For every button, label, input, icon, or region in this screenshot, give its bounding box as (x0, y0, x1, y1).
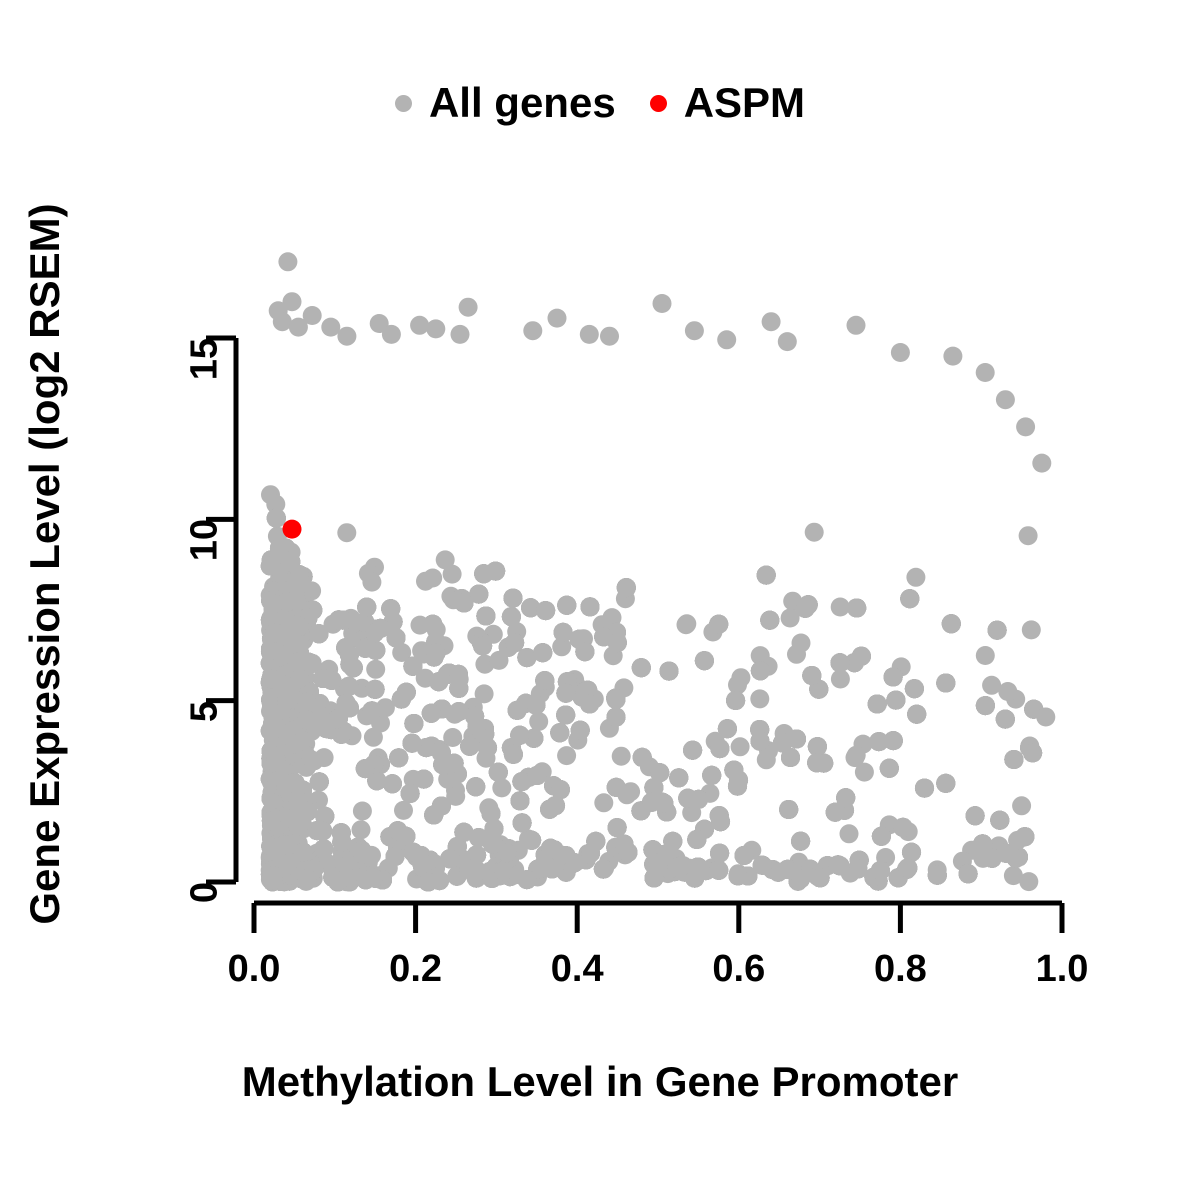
aspm-highlight-point (283, 520, 302, 539)
x-tick-label: 0.0 (228, 948, 281, 991)
y-tick-label: 15 (184, 338, 227, 380)
y-axis-title: Gene Expression Level (log2 RSEM) (21, 0, 69, 1164)
x-tick-label: 0.8 (874, 948, 927, 991)
y-tick-label: 5 (184, 701, 227, 722)
x-tick-label: 0.4 (551, 948, 604, 991)
x-tick-label: 0.6 (712, 948, 765, 991)
x-tick-label: 1.0 (1036, 948, 1089, 991)
data-points-layer (261, 252, 1056, 891)
scatter-plot-figure: All genes ASPM Methylation Level in Gene… (0, 0, 1200, 1200)
y-tick-label: 0 (184, 882, 227, 903)
x-axis-title: Methylation Level in Gene Promoter (0, 1058, 1200, 1106)
y-tick-label: 10 (184, 519, 227, 561)
plot-canvas (0, 0, 1200, 1200)
aspm-point (283, 520, 302, 539)
x-tick-label: 0.2 (389, 948, 442, 991)
